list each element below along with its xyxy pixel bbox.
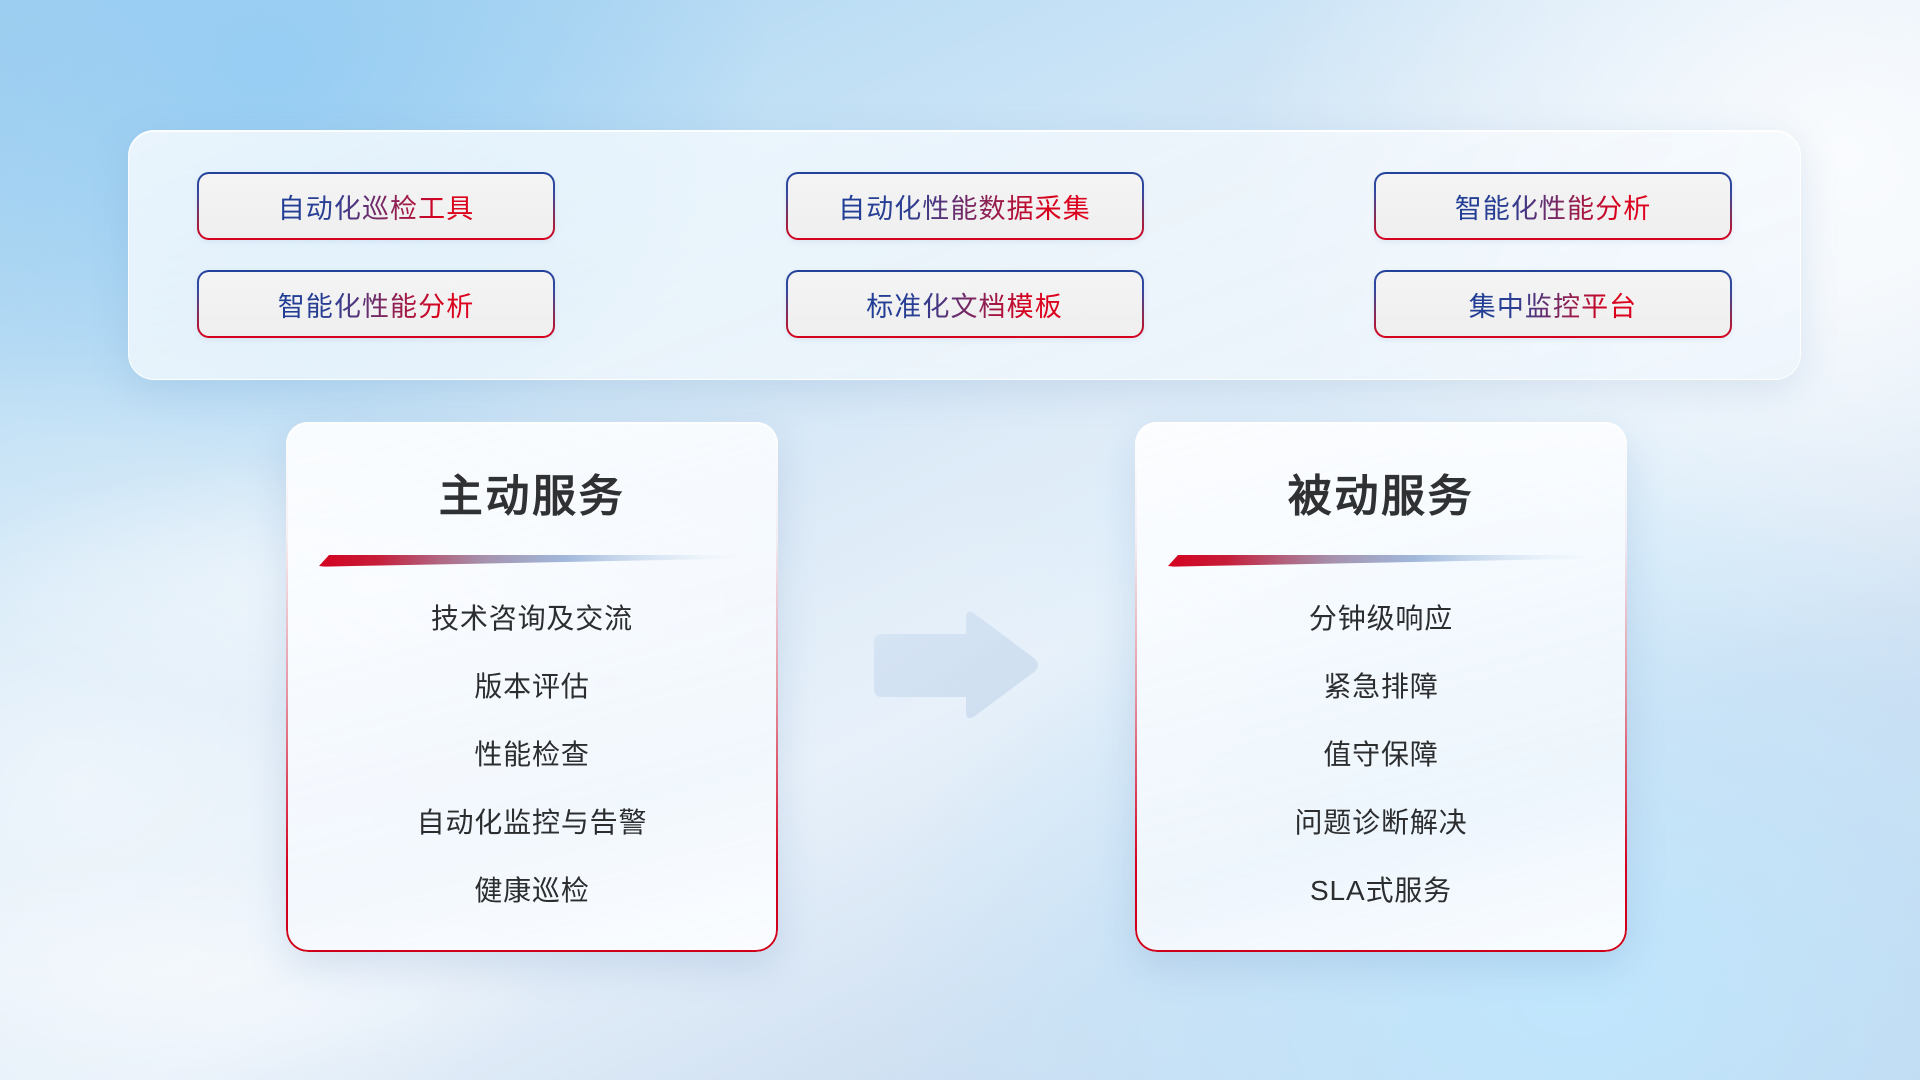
page-canvas: 自动化巡检工具 自动化性能数据采集 智能化性能分析 智能化性能分析 标准化文档模… bbox=[0, 0, 1920, 1080]
capability-tag[interactable]: 集中监控平台 bbox=[1374, 270, 1732, 338]
title-divider bbox=[1168, 554, 1594, 567]
capability-tag-label: 智能化性能分析 bbox=[1455, 187, 1652, 226]
capability-tag[interactable]: 智能化性能分析 bbox=[1374, 172, 1732, 240]
capability-tag-label: 标准化文档模板 bbox=[866, 285, 1063, 324]
capability-tag-label: 自动化性能数据采集 bbox=[838, 187, 1091, 226]
card-title: 主动服务 bbox=[286, 460, 778, 524]
capability-tag[interactable]: 标准化文档模板 bbox=[786, 270, 1144, 338]
capability-tag-label: 自动化巡检工具 bbox=[278, 187, 475, 226]
list-item[interactable]: 性能检查 bbox=[474, 733, 589, 773]
capability-tag-label: 智能化性能分析 bbox=[278, 285, 475, 324]
card-item-list: 技术咨询及交流 版本评估 性能检查 自动化监控与告警 健康巡检 bbox=[286, 597, 778, 909]
capability-tag[interactable]: 自动化巡检工具 bbox=[197, 172, 555, 240]
capability-row-2: 智能化性能分析 标准化文档模板 集中监控平台 bbox=[197, 270, 1732, 338]
list-item[interactable]: 值守保障 bbox=[1323, 733, 1438, 773]
card-item-list: 分钟级响应 紧急排障 值守保障 问题诊断解决 SLA式服务 bbox=[1135, 597, 1627, 909]
capability-row-1: 自动化巡检工具 自动化性能数据采集 智能化性能分析 bbox=[197, 172, 1732, 240]
list-item[interactable]: 自动化监控与告警 bbox=[417, 801, 648, 841]
list-item[interactable]: 问题诊断解决 bbox=[1294, 801, 1467, 841]
list-item[interactable]: 版本评估 bbox=[474, 665, 589, 705]
card-title: 被动服务 bbox=[1135, 460, 1627, 524]
capabilities-panel: 自动化巡检工具 自动化性能数据采集 智能化性能分析 智能化性能分析 标准化文档模… bbox=[128, 130, 1801, 380]
service-card-reactive: 被动服务 分钟级响应 紧急排障 值守保障 bbox=[1135, 422, 1627, 952]
list-item[interactable]: 技术咨询及交流 bbox=[431, 597, 633, 637]
right-arrow-icon bbox=[862, 608, 1042, 723]
title-divider bbox=[319, 554, 745, 567]
list-item[interactable]: 紧急排障 bbox=[1323, 665, 1438, 705]
list-item[interactable]: 健康巡检 bbox=[474, 869, 589, 909]
capability-tag[interactable]: 智能化性能分析 bbox=[197, 270, 555, 338]
service-card-proactive: 主动服务 技术咨询及交流 版本评估 性能检查 bbox=[286, 422, 778, 952]
capability-tag-label: 集中监控平台 bbox=[1469, 285, 1637, 324]
capability-tag[interactable]: 自动化性能数据采集 bbox=[786, 172, 1144, 240]
list-item[interactable]: SLA式服务 bbox=[1310, 869, 1452, 909]
list-item[interactable]: 分钟级响应 bbox=[1309, 597, 1453, 637]
